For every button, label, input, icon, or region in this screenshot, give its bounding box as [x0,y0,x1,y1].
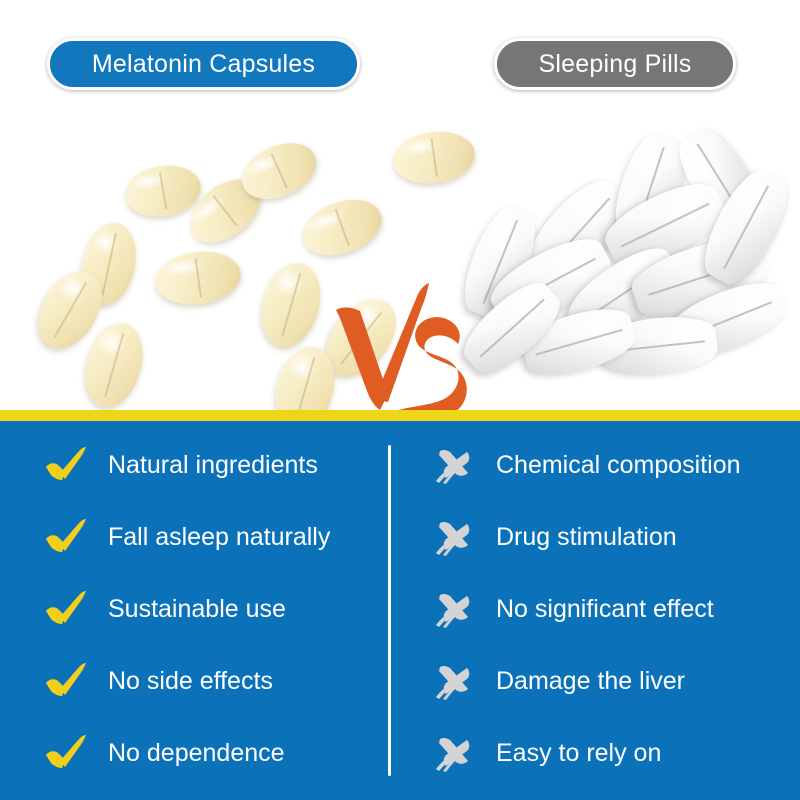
comparison-panel: Natural ingredients Fall asleep naturall… [0,421,800,800]
pros-column: Natural ingredients Fall asleep naturall… [0,421,388,800]
melatonin-capsules-image [25,110,355,410]
product-badge-sleeping-pills-label: Sleeping Pills [539,52,692,77]
cross-icon [432,517,476,557]
list-item-label: Easy to rely on [496,741,661,766]
cross-icon [432,445,476,485]
list-item-label: No significant effect [496,597,714,622]
check-icon [44,589,88,629]
list-item-label: No dependence [108,741,285,766]
list-item-label: Sustainable use [108,597,286,622]
sleeping-pills-image [455,110,785,410]
list-item: No dependence [0,731,285,775]
list-item-label: Damage the liver [496,669,685,694]
photo-band [0,110,800,410]
list-item: Chemical composition [391,443,741,487]
list-item: No significant effect [391,587,714,631]
cross-icon [432,661,476,701]
cross-icon [432,589,476,629]
list-item-label: Natural ingredients [108,453,318,478]
list-item: Natural ingredients [0,443,318,487]
list-item: Drug stimulation [391,515,677,559]
check-icon [44,445,88,485]
header-row: Melatonin Capsules Sleeping Pills [0,0,800,110]
check-icon [44,517,88,557]
list-item-label: Drug stimulation [496,525,677,550]
list-item: No side effects [0,659,273,703]
cross-icon [432,733,476,773]
check-icon [44,733,88,773]
check-icon [44,661,88,701]
list-item-label: Fall asleep naturally [108,525,330,550]
product-badge-sleeping-pills[interactable]: Sleeping Pills [494,38,736,90]
comparison-infographic: Melatonin Capsules Sleeping Pills [0,0,800,800]
product-badge-melatonin-label: Melatonin Capsules [92,52,315,77]
list-item-label: Chemical composition [496,453,741,478]
product-badge-melatonin[interactable]: Melatonin Capsules [47,38,360,90]
list-item: Fall asleep naturally [0,515,330,559]
list-item: Damage the liver [391,659,685,703]
list-item: Sustainable use [0,587,286,631]
cons-column: Chemical composition Drug stimulation [391,421,800,800]
accent-divider [0,410,800,421]
list-item-label: No side effects [108,669,273,694]
list-item: Easy to rely on [391,731,661,775]
